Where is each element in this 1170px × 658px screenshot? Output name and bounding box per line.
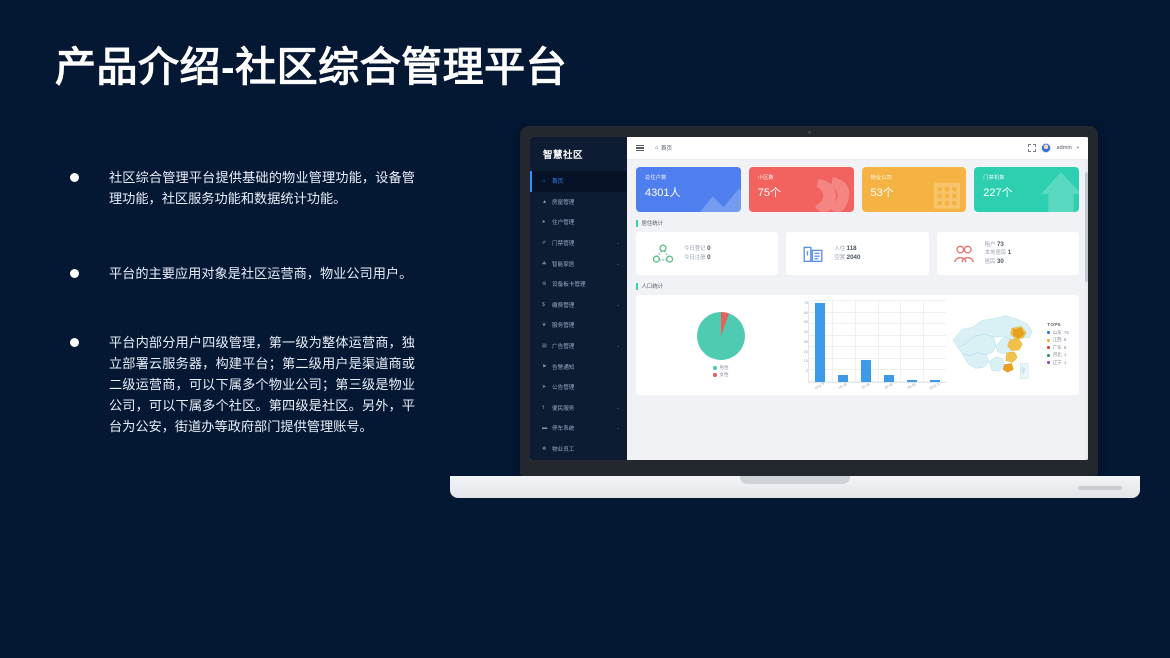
megaphone-icon: ➤: [542, 384, 549, 390]
top5-title: TOP5: [1047, 323, 1069, 328]
top5-item[interactable]: 广东: 6: [1047, 345, 1069, 351]
grid-line-v: [900, 301, 901, 382]
pie-legend-item[interactable]: 女性: [713, 372, 728, 378]
live-card-metrics: 入住 118空置 2040: [834, 245, 860, 262]
service-icon: ❦: [542, 322, 549, 328]
bar-column-3[interactable]: [884, 301, 894, 382]
grid-line-v: [878, 301, 879, 382]
avatar[interactable]: [1041, 143, 1051, 153]
bullet-dot-icon: [70, 173, 79, 182]
bar-column-4[interactable]: [907, 301, 917, 382]
bar[interactable]: [930, 380, 940, 381]
sidebar-item-label: 门禁管理: [552, 239, 574, 247]
home-icon: ⌂: [542, 178, 549, 184]
stat-card-row: 总住户数4301人小区数75个物业公司53个门禁机数227个: [636, 167, 1079, 212]
legend-color-dot: [1047, 354, 1050, 357]
live-metric-value: 73: [997, 241, 1004, 248]
building-blue-icon: [802, 243, 824, 265]
chevron-deco: [699, 184, 741, 212]
app-sidebar: 智慧社区 ⌂首页▲房屋管理●住户管理✐门禁管理⌄☘智能家居⌄⚙设备板卡管理$缴费…: [530, 137, 627, 460]
live-metric-row: 入住 118: [834, 245, 860, 254]
bell-icon: ⚑: [542, 364, 549, 370]
live-metric-label: 空置: [834, 255, 845, 261]
sidebar-item-label: 智能家居: [552, 260, 574, 268]
section-title-population: 人口统计: [636, 282, 1079, 290]
sidebar-item-label: 服务管理: [552, 321, 574, 329]
bar[interactable]: [815, 303, 825, 381]
bar-y-axis: 706050403020100: [796, 301, 808, 373]
live-metric-value: 118: [847, 245, 857, 252]
bar[interactable]: [884, 375, 894, 382]
pie-legend: 男性女性: [713, 365, 728, 378]
live-metric-value: 0: [707, 245, 710, 252]
live-card-metrics: 今日登记 0今日注册 0: [684, 245, 711, 262]
stat-card-label: 总住户数: [645, 174, 741, 181]
live-metric-row: 居民 30: [985, 258, 1012, 267]
bar-column-2[interactable]: [861, 301, 871, 382]
bullet-text: 社区综合管理平台提供基础的物业管理功能，设备管理功能，社区服务功能和数据统计功能…: [109, 167, 415, 209]
legend-color-dot: [1047, 331, 1050, 334]
sidebar-item-4[interactable]: ☘智能家居⌄: [530, 253, 627, 274]
home-icon: ⌂: [655, 145, 658, 151]
top5-item[interactable]: 河北: 1: [1047, 352, 1069, 358]
car-icon: ▬: [542, 425, 549, 431]
live-card-1[interactable]: 入住 118空置 2040: [786, 232, 928, 275]
bullet-text: 平台的主要应用对象是社区运营商，物业公司用户。: [109, 263, 412, 284]
live-metric-value: 1: [1008, 249, 1011, 256]
laptop-base: [450, 476, 1140, 498]
sidebar-item-label: 首页: [552, 177, 563, 185]
china-map-graphic: [946, 306, 1041, 384]
chevron-down-icon[interactable]: ⌄: [616, 405, 620, 411]
app-screen: 智慧社区 ⌂首页▲房屋管理●住户管理✐门禁管理⌄☘智能家居⌄⚙设备板卡管理$缴费…: [530, 137, 1088, 460]
sidebar-item-label: 广告管理: [552, 342, 574, 350]
sidebar-item-10[interactable]: ➤公告管理: [530, 377, 627, 398]
key-icon: ✐: [542, 240, 549, 246]
breadcrumb-label: 首页: [661, 144, 672, 152]
list-item: 社区综合管理平台提供基础的物业管理功能，设备管理功能，社区服务功能和数据统计功能…: [70, 167, 415, 209]
sidebar-item-label: 停车系统: [552, 424, 574, 432]
charts-panel: 男性女性 706050403020100 18以下18-2526-3536-45…: [636, 295, 1079, 395]
sidebar-item-8[interactable]: ▤广告管理⌄: [530, 336, 627, 357]
sidebar-item-1[interactable]: ▲房屋管理: [530, 192, 627, 213]
hamburger-icon[interactable]: [636, 145, 644, 152]
bar[interactable]: [861, 360, 871, 382]
top5-label: 河北: 1: [1053, 352, 1067, 358]
sidebar-item-6[interactable]: $缴费管理⌄: [530, 295, 627, 316]
people-red-icon: [953, 243, 975, 265]
stat-card-0[interactable]: 总住户数4301人: [636, 167, 741, 212]
top5-label: 广东: 6: [1053, 345, 1067, 351]
app-main: ⌂ 首页 admin ▾ 总住户数4301人小区数75个物业公司53个门: [627, 137, 1088, 460]
live-metric-row: 本地居民 1: [985, 249, 1012, 258]
chevron-down-icon[interactable]: ⌄: [616, 343, 620, 349]
sidebar-item-label: 便民服务: [552, 404, 574, 412]
building-deco: [934, 179, 960, 209]
network-icon: [652, 243, 674, 265]
app-header: ⌂ 首页 admin ▾: [627, 137, 1088, 160]
users-icon: ●: [542, 219, 549, 225]
sidebar-item-0[interactable]: ⌂首页: [530, 171, 627, 192]
sidebar-item-label: 告警通知: [552, 363, 574, 371]
pie-legend-item[interactable]: 男性: [713, 365, 728, 371]
page-title: 产品介绍-社区综合管理平台: [55, 33, 567, 93]
smarthome-icon: ☘: [542, 261, 549, 267]
live-metric-row: 空置 2040: [834, 254, 860, 263]
legend-label: 女性: [719, 372, 728, 378]
app-body: 总住户数4301人小区数75个物业公司53个门禁机数227个 居住统计 今日登记…: [627, 160, 1088, 460]
sidebar-item-13[interactable]: ☸物业员工: [530, 439, 627, 460]
sidebar-item-2[interactable]: ●住户管理: [530, 212, 627, 233]
top5-item[interactable]: 山东: 76: [1047, 330, 1069, 336]
sidebar-item-9[interactable]: ⚑告警通知: [530, 356, 627, 377]
live-metric-label: 租户: [985, 242, 996, 248]
sidebar-item-label: 房屋管理: [552, 198, 574, 206]
money-icon: $: [542, 302, 549, 308]
live-metric-label: 今日登记: [684, 246, 706, 252]
legend-color-dot: [1047, 361, 1050, 364]
live-card-metrics: 租户 73本地居民 1居民 30: [985, 241, 1012, 267]
top5-label: 山东: 76: [1053, 330, 1069, 336]
laptop-lid: 智慧社区 ⌂首页▲房屋管理●住户管理✐门禁管理⌄☘智能家居⌄⚙设备板卡管理$缴费…: [520, 126, 1098, 476]
sidebar-item-label: 设备板卡管理: [552, 280, 586, 288]
tools-icon: ☨: [542, 405, 549, 411]
bullet-dot-icon: [70, 269, 79, 278]
arrow-deco: [1041, 172, 1079, 212]
pie-graphic: [697, 312, 745, 360]
chevron-down-icon[interactable]: ▾: [1077, 145, 1079, 151]
chevron-down-icon[interactable]: ⌄: [616, 302, 620, 308]
header-actions: admin ▾: [1028, 143, 1079, 153]
top5-label: 江西: 6: [1053, 337, 1067, 343]
fullscreen-icon[interactable]: [1028, 144, 1036, 152]
laptop-foot: [1078, 486, 1122, 490]
china-map-chart: TOP5 山东: 76江西: 6广东: 6河北: 1辽宁: 1: [946, 301, 1069, 389]
section-label: 人口统计: [642, 282, 664, 290]
building-icon: ▲: [542, 199, 549, 205]
grid-line-v: [855, 301, 856, 382]
quote-deco: [812, 174, 852, 212]
section-title-live: 居住统计: [636, 219, 1079, 227]
bar-plot-area: [808, 301, 946, 383]
sidebar-item-11[interactable]: ☨便民服务⌄: [530, 398, 627, 419]
legend-color-dot: [713, 366, 716, 369]
live-metric-label: 本地居民: [985, 250, 1007, 256]
ad-icon: ▤: [542, 343, 549, 349]
live-metric-label: 今日注册: [684, 255, 706, 261]
live-metric-value: 2040: [847, 254, 861, 261]
gender-pie-chart: 男性女性: [646, 301, 796, 389]
bar-column-0[interactable]: [815, 301, 825, 382]
grid-line-v: [832, 301, 833, 382]
bullet-dot-icon: [70, 338, 79, 347]
bar-x-axis: 18以下18-2526-3536-4546-5555以上: [808, 384, 946, 389]
live-metric-value: 30: [997, 258, 1004, 265]
breadcrumb[interactable]: ⌂ 首页: [655, 144, 672, 152]
scrollbar-thumb[interactable]: [1085, 172, 1088, 282]
sidebar-item-label: 公告管理: [552, 383, 574, 391]
bar[interactable]: [838, 375, 848, 382]
legend-color-dot: [1047, 346, 1050, 349]
stat-card-1[interactable]: 小区数75个: [749, 167, 854, 212]
top5-item[interactable]: 江西: 6: [1047, 337, 1069, 343]
stat-card-2[interactable]: 物业公司53个: [862, 167, 967, 212]
live-metric-label: 入住: [834, 246, 845, 252]
section-label: 居住统计: [642, 219, 664, 227]
sidebar-nav: ⌂首页▲房屋管理●住户管理✐门禁管理⌄☘智能家居⌄⚙设备板卡管理$缴费管理⌄❦服…: [530, 171, 627, 459]
legend-color-dot: [713, 373, 716, 376]
live-metric-row: 今日登记 0: [684, 245, 711, 254]
top5-rows: 山东: 76江西: 6广东: 6河北: 1辽宁: 1: [1047, 330, 1069, 366]
app-brand: 智慧社区: [530, 137, 627, 171]
sidebar-item-label: 物业员工: [552, 445, 574, 453]
live-card-2[interactable]: 租户 73本地居民 1居民 30: [937, 232, 1079, 275]
chevron-down-icon[interactable]: ⌄: [616, 425, 620, 431]
live-metric-row: 今日注册 0: [684, 254, 711, 263]
legend-label: 男性: [719, 365, 728, 371]
bar[interactable]: [907, 380, 917, 381]
chevron-down-icon[interactable]: ⌄: [616, 261, 620, 267]
legend-color-dot: [1047, 339, 1050, 342]
webcam-icon: [808, 131, 811, 134]
live-metric-value: 0: [707, 254, 710, 261]
chip-icon: ⚙: [542, 281, 549, 287]
live-metric-row: 租户 73: [985, 241, 1012, 250]
top5-legend: TOP5 山东: 76江西: 6广东: 6河北: 1辽宁: 1: [1047, 323, 1069, 368]
sidebar-item-7[interactable]: ❦服务管理: [530, 315, 627, 336]
sidebar-item-5[interactable]: ⚙设备板卡管理: [530, 274, 627, 295]
vertical-scrollbar[interactable]: [1085, 160, 1088, 460]
live-metric-label: 居民: [985, 259, 996, 265]
stat-card-3[interactable]: 门禁机数227个: [974, 167, 1079, 212]
laptop-mockup: 智慧社区 ⌂首页▲房屋管理●住户管理✐门禁管理⌄☘智能家居⌄⚙设备板卡管理$缴费…: [450, 126, 1140, 516]
user-name[interactable]: admin: [1056, 145, 1071, 151]
sidebar-item-12[interactable]: ▬停车系统⌄: [530, 418, 627, 439]
staff-icon: ☸: [542, 446, 549, 452]
age-bar-chart: 706050403020100 18以下18-2526-3536-4546-55…: [796, 301, 946, 389]
live-card-row: 今日登记 0今日注册 0入住 118空置 2040租户 73本地居民 1居民 3…: [636, 232, 1079, 275]
bar-column-1[interactable]: [838, 301, 848, 382]
sidebar-item-label: 缴费管理: [552, 301, 574, 309]
live-card-0[interactable]: 今日登记 0今日注册 0: [636, 232, 778, 275]
grid-line-v: [923, 301, 924, 382]
top5-item[interactable]: 辽宁: 1: [1047, 360, 1069, 366]
sidebar-item-3[interactable]: ✐门禁管理⌄: [530, 233, 627, 254]
top5-label: 辽宁: 1: [1053, 360, 1067, 366]
sidebar-item-label: 住户管理: [552, 218, 574, 226]
bar-column-5[interactable]: [930, 301, 940, 382]
list-item: 平台的主要应用对象是社区运营商，物业公司用户。: [70, 263, 415, 284]
bullet-list: 社区综合管理平台提供基础的物业管理功能，设备管理功能，社区服务功能和数据统计功能…: [70, 167, 415, 463]
bullet-text: 平台内部分用户四级管理，第一级为整体运营商，独立部署云服务器，构建平台；第二级用…: [109, 332, 415, 437]
list-item: 平台内部分用户四级管理，第一级为整体运营商，独立部署云服务器，构建平台；第二级用…: [70, 332, 415, 437]
chevron-down-icon[interactable]: ⌄: [616, 240, 620, 246]
